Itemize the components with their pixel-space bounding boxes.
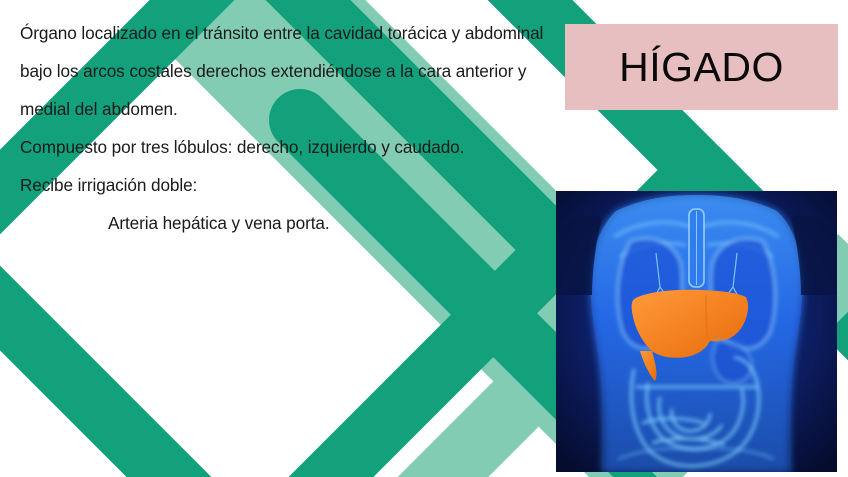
- slide-canvas: Órgano localizado en el tránsito entre l…: [0, 0, 848, 477]
- paragraph-4: Arteria hepática y vena porta.: [20, 204, 550, 242]
- human-torso-liver-illustration: [556, 191, 837, 472]
- page-title: HÍGADO: [619, 47, 784, 88]
- title-plate: HÍGADO: [565, 24, 838, 110]
- paragraph-3: Recibe irrigación doble:: [20, 166, 550, 204]
- body-text-block: Órgano localizado en el tránsito entre l…: [20, 14, 550, 242]
- anatomy-svg: [556, 191, 837, 472]
- paragraph-1: Órgano localizado en el tránsito entre l…: [20, 14, 550, 128]
- paragraph-2: Compuesto por tres lóbulos: derecho, izq…: [20, 128, 550, 166]
- trachea: [689, 209, 704, 287]
